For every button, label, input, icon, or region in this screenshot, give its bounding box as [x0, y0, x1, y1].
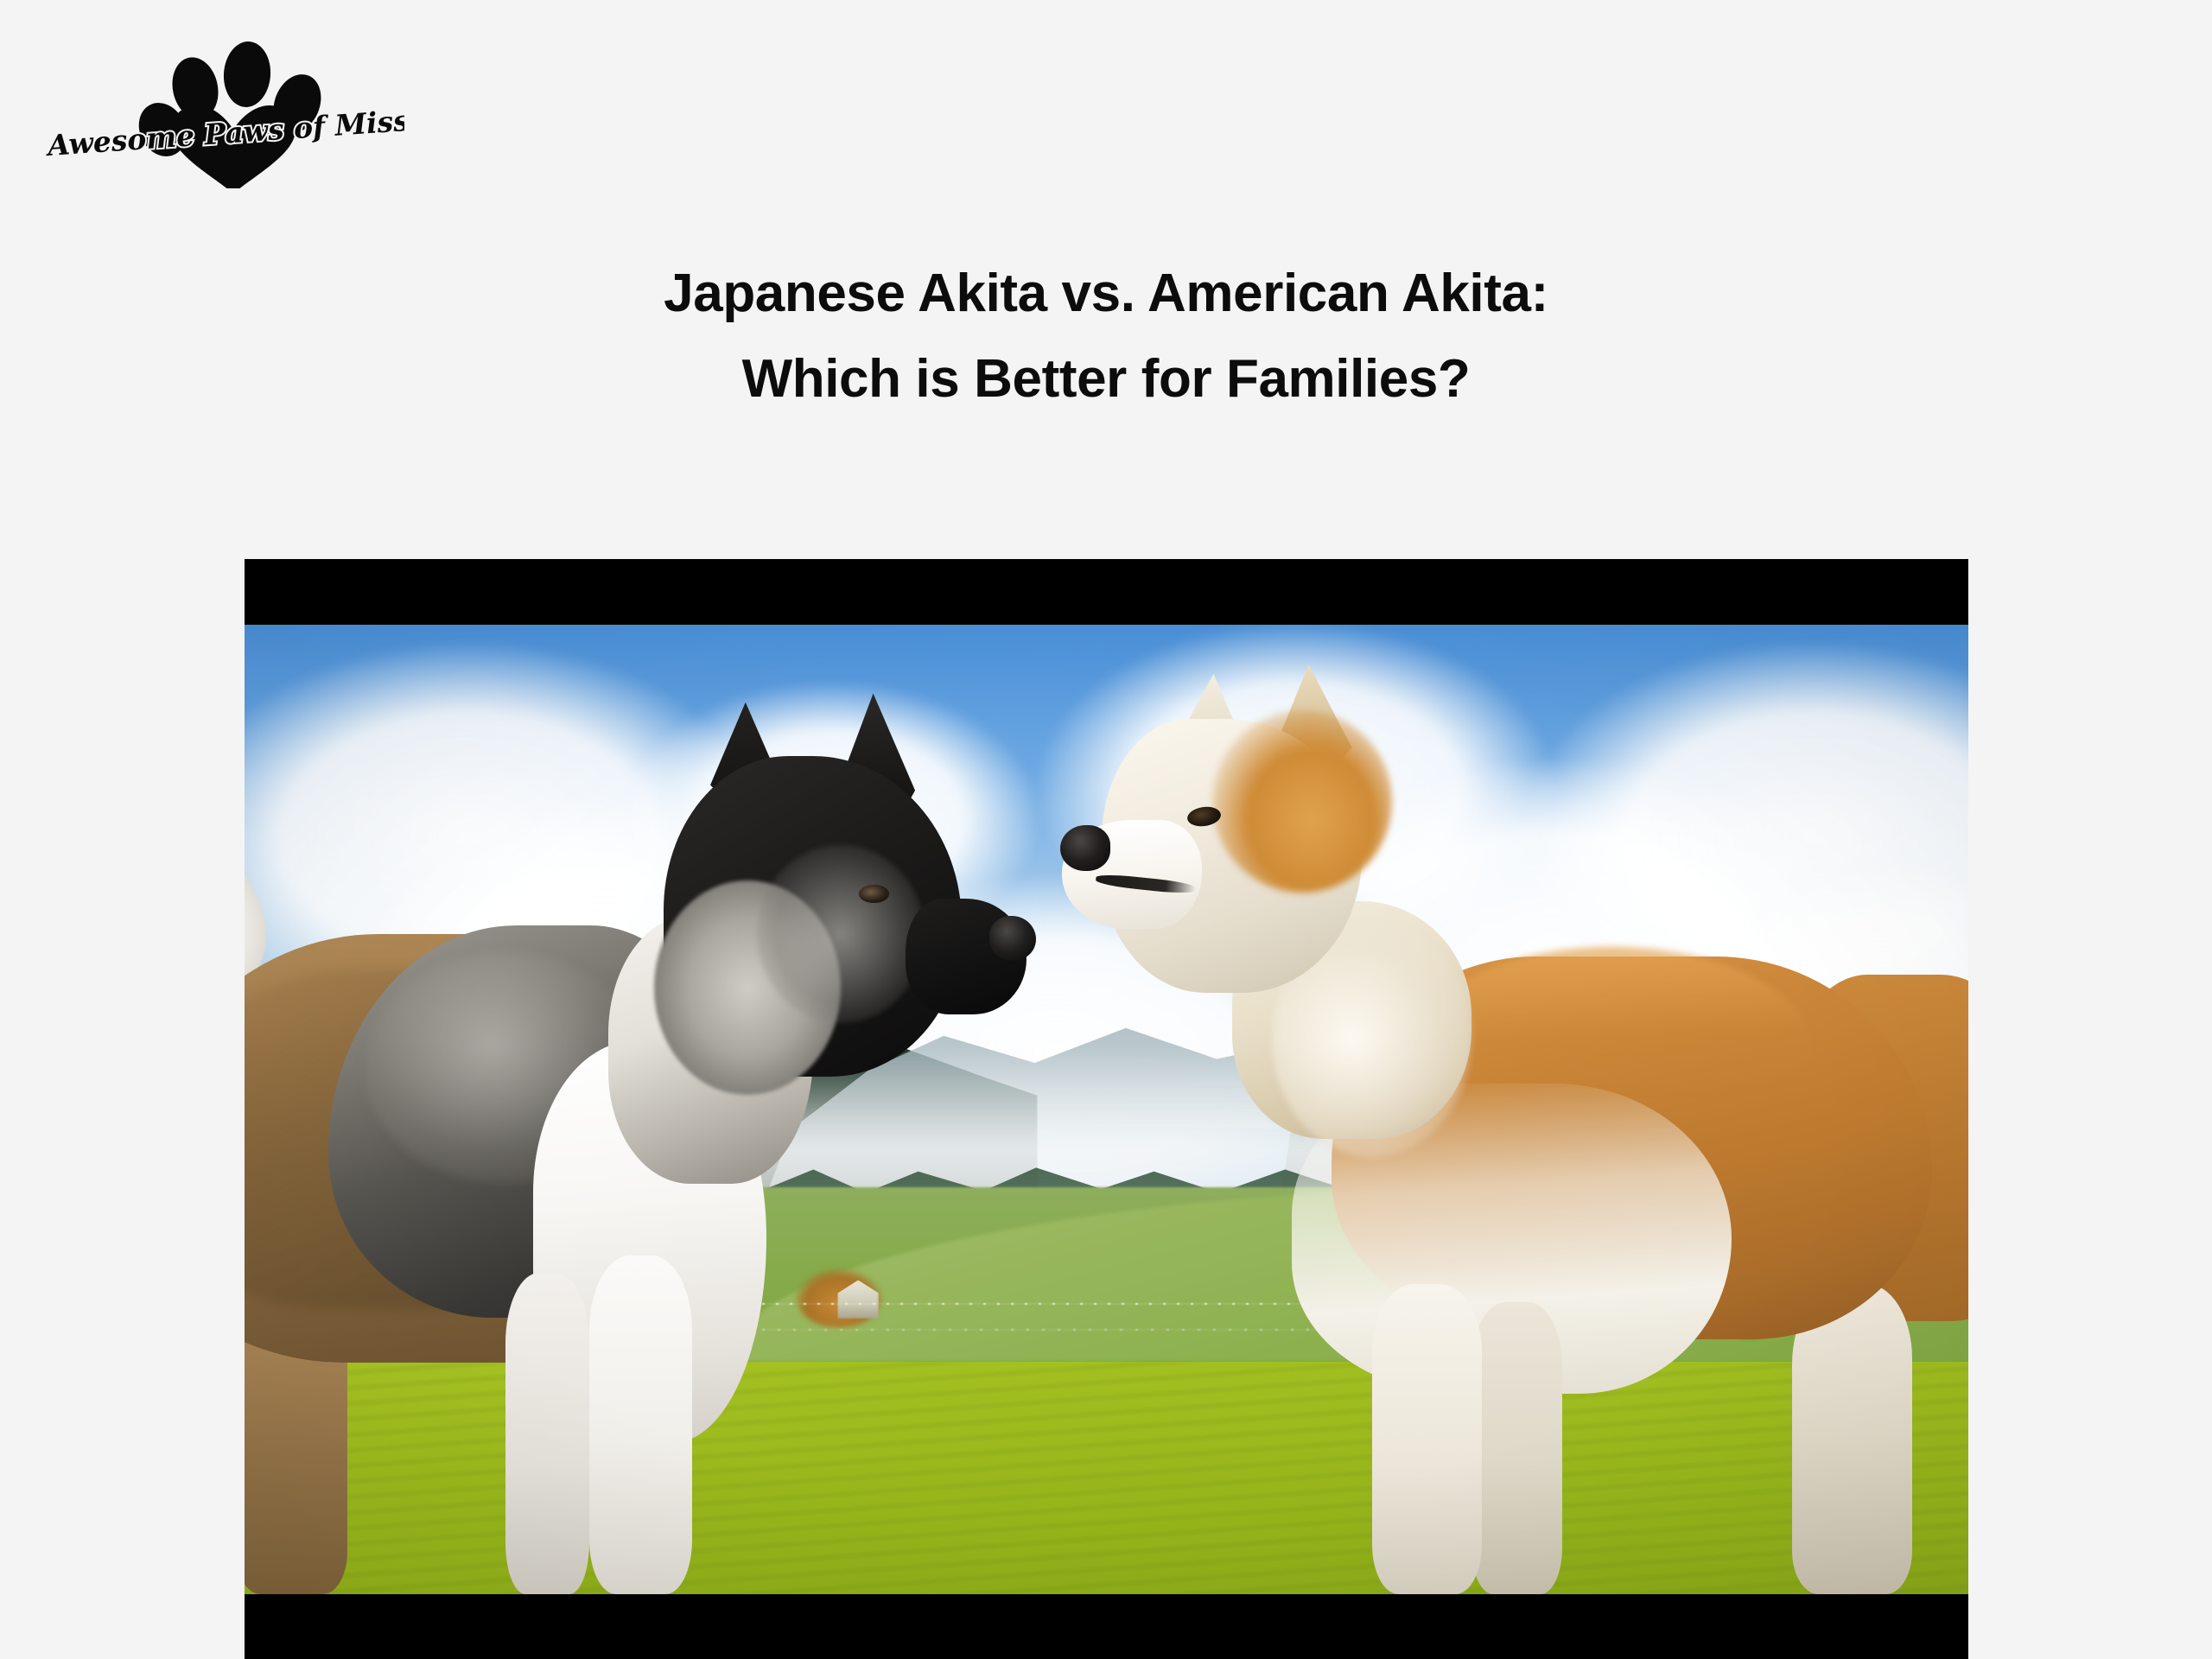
paw-print-icon: Awesome Paws of Missouri — [41, 33, 404, 188]
akita-nose — [989, 916, 1036, 961]
akita-face-mask — [757, 845, 925, 1023]
letterbox-bar-top — [245, 559, 1968, 625]
akita-eye — [859, 885, 888, 903]
akita-front-leg — [1372, 1284, 1482, 1594]
akita-front-leg — [505, 1273, 589, 1594]
akita-front-leg — [1471, 1302, 1561, 1593]
letterbox-bar-bottom — [245, 1594, 1968, 1659]
site-logo[interactable]: Awesome Paws of Missouri — [41, 33, 404, 188]
video-thumbnail[interactable] — [245, 559, 1968, 1659]
page-root: Awesome Paws of Missouri Japanese Akita … — [0, 0, 2212, 1659]
akita-front-leg — [589, 1255, 692, 1594]
akita-head-marking — [1212, 710, 1392, 893]
page-title-line-1: Japanese Akita vs. American Akita: — [0, 251, 2212, 336]
akita-rear-leg — [1792, 1284, 1912, 1594]
american-akita — [245, 702, 1055, 1594]
page-title: Japanese Akita vs. American Akita: Which… — [0, 251, 2212, 422]
akita-comparison-photo — [245, 625, 1968, 1594]
japanese-akita — [1072, 683, 1968, 1594]
akita-nose — [1060, 825, 1110, 871]
page-title-line-2: Which is Better for Families? — [0, 336, 2212, 422]
